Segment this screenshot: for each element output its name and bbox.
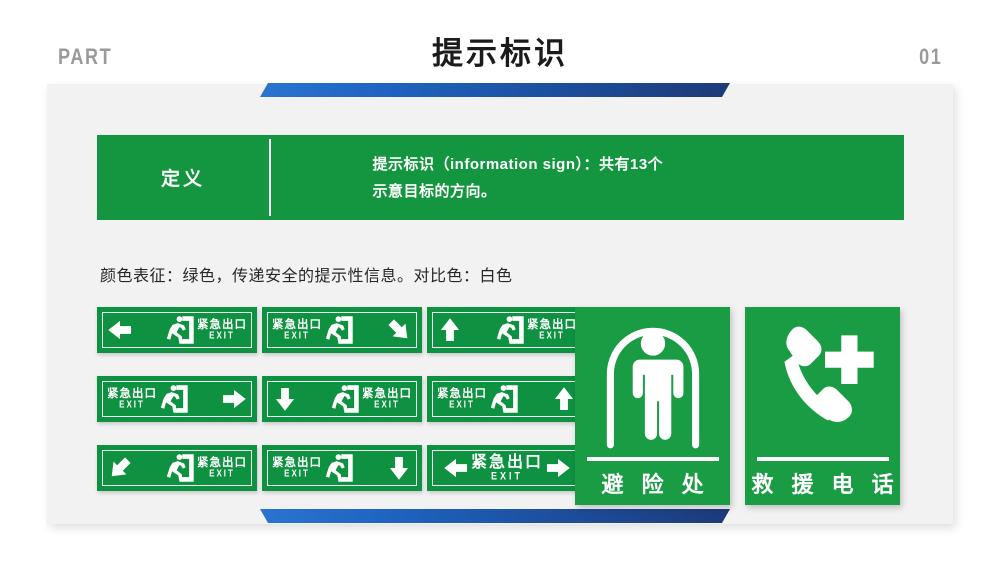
exit-sign-text: 紧急出口EXIT: [272, 458, 322, 479]
exit-sign-label-cn: 紧急出口: [471, 455, 543, 471]
running-man-icon: [489, 383, 519, 415]
running-man-icon: [165, 452, 195, 484]
exit-sign-up-arrow-right: 紧急出口EXIT: [427, 376, 587, 422]
exit-sign-inner-border: 紧急出口EXIT: [432, 312, 582, 348]
rescue-phone-sign-caption: 救 援 电 话: [745, 461, 899, 505]
exit-sign-up-arrow-left: 紧急出口EXIT: [427, 307, 587, 353]
definition-label: 定义: [97, 135, 269, 220]
shelter-sign-caption: 避 险 处: [595, 461, 709, 505]
definition-line-2: 示意目标的方向。: [373, 178, 803, 205]
exit-sign-both-arrows: 紧急出口EXIT: [427, 445, 587, 491]
running-man-icon: [324, 452, 354, 484]
exit-sign-label-en: EXIT: [119, 400, 145, 410]
exit-sign-text: 紧急出口EXIT: [197, 320, 247, 341]
exit-sign-text: 紧急出口EXIT: [527, 320, 577, 341]
running-man-icon: [330, 383, 360, 415]
exit-sign-label-en: EXIT: [284, 469, 310, 479]
exit-sign-right-arrow: 紧急出口EXIT: [97, 376, 257, 422]
exit-sign-label-en: EXIT: [209, 331, 235, 341]
exit-sign-inner-border: 紧急出口EXIT: [267, 450, 417, 486]
exit-sign-inner-border: 紧急出口EXIT: [267, 312, 417, 348]
exit-sign-down-arrow-right: 紧急出口EXIT: [262, 445, 422, 491]
exit-sign-text: 紧急出口EXIT: [107, 389, 157, 410]
color-note: 颜色表征：绿色，传递安全的提示性信息。对比色：白色: [100, 262, 513, 286]
right-arrow-icon: [545, 455, 571, 481]
person-under-arch-icon: [575, 307, 730, 457]
exit-sign-inner-border: 紧急出口EXIT: [102, 381, 252, 417]
running-man-icon: [324, 314, 354, 346]
exit-sign-grid: 紧急出口EXIT紧急出口EXIT紧急出口EXIT紧急出口EXIT紧急出口EXIT…: [97, 307, 567, 507]
exit-sign-down-left-arrow: 紧急出口EXIT: [97, 445, 257, 491]
left-arrow-icon: [107, 317, 133, 343]
rescue-phone-sign: 救 援 电 话: [745, 307, 900, 505]
down-arrow-icon: [272, 386, 298, 412]
exit-sign-text: 紧急出口EXIT: [437, 389, 487, 410]
telephone-cross-icon: [745, 307, 900, 457]
up-arrow-icon: [551, 386, 577, 412]
exit-sign-inner-border: 紧急出口EXIT: [102, 312, 252, 348]
running-man-icon: [165, 314, 195, 346]
shelter-sign: 避 险 处: [575, 307, 730, 505]
down-left-arrow-icon: [107, 455, 133, 481]
exit-sign-inner-border: 紧急出口EXIT: [102, 450, 252, 486]
bottom-accent-bar: [260, 509, 730, 523]
page-title: 提示标识: [0, 28, 1000, 73]
exit-sign-label-en: EXIT: [539, 331, 565, 341]
exit-sign-left-arrow: 紧急出口EXIT: [97, 307, 257, 353]
exit-sign-label-en: EXIT: [284, 331, 310, 341]
slide-header: PART 提示标识 01: [0, 0, 1000, 80]
exit-sign-inner-border: 紧急出口EXIT: [432, 381, 582, 417]
running-man-icon: [159, 383, 189, 415]
exit-sign-label-en: EXIT: [491, 471, 523, 482]
exit-sign-down-right-arrow: 紧急出口EXIT: [262, 307, 422, 353]
exit-sign-text: 紧急出口EXIT: [471, 455, 543, 481]
left-arrow-icon: [443, 455, 469, 481]
definition-line-1: 提示标识（information sign）：共有13个: [373, 151, 803, 178]
down-arrow-icon: [386, 455, 412, 481]
exit-sign-label-en: EXIT: [449, 400, 475, 410]
up-arrow-icon: [437, 317, 463, 343]
exit-sign-text: 紧急出口EXIT: [362, 389, 412, 410]
exit-sign-text: 紧急出口EXIT: [197, 458, 247, 479]
exit-sign-down-arrow-left: 紧急出口EXIT: [262, 376, 422, 422]
running-man-icon: [495, 314, 525, 346]
exit-sign-text: 紧急出口EXIT: [272, 320, 322, 341]
down-right-arrow-icon: [386, 317, 412, 343]
right-arrow-icon: [221, 386, 247, 412]
top-accent-bar: [260, 83, 730, 97]
definition-body: 提示标识（information sign）：共有13个 示意目标的方向。: [271, 135, 904, 220]
exit-sign-inner-border: 紧急出口EXIT: [432, 450, 582, 486]
exit-sign-label-en: EXIT: [374, 400, 400, 410]
exit-sign-inner-border: 紧急出口EXIT: [267, 381, 417, 417]
definition-block: 定义 提示标识（information sign）：共有13个 示意目标的方向。: [97, 135, 904, 220]
exit-sign-label-en: EXIT: [209, 469, 235, 479]
page-number: 01: [919, 44, 942, 70]
